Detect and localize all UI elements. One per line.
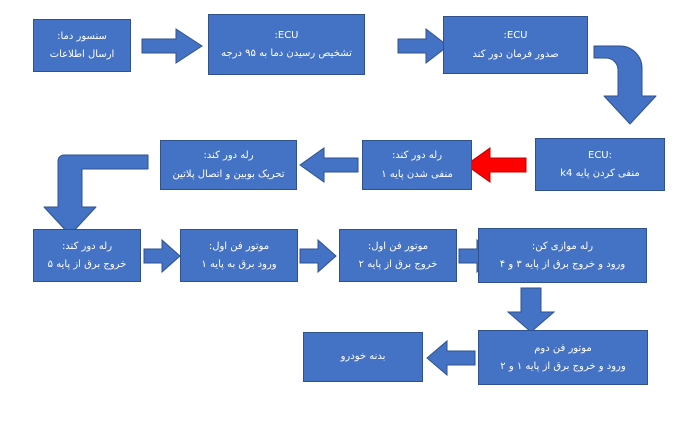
node-line1: :ECU [540,150,660,162]
node-line1: رله دور کند: [165,150,292,162]
node-line1: موتور فن اول: [185,241,293,253]
node-line2: صدور فرمان دور کند [448,49,583,61]
node-line1: موتور فن اول: [344,241,452,253]
node-line1: رله دور کند: [367,150,467,162]
node-relay-slow-pin1[interactable]: رله دور کند: منفی شدن پایه ۱ [362,140,472,190]
arrow-right-1 [142,29,202,63]
node-car-body[interactable]: بدنه خودرو [303,332,423,382]
node-line2: تحریک بوبین و اتصال پلاتین [165,169,292,181]
node-line1: رله موازی کن: [483,241,642,253]
node-line2: ارسال اطلاعات [38,49,126,61]
arrow-left-red [466,148,526,182]
node-line1: ECU: [448,30,583,42]
node-line1: سنسور دما: [38,31,126,43]
flowchart-canvas: سنسور دما: ارسال اطلاعات ECU: تشخیص رسید… [0,0,695,423]
arrow-elbow-left-down [38,155,148,237]
node-line1: بدنه خودرو [308,351,418,363]
node-parallel-relay[interactable]: رله موازی کن: ورود و خروج برق از پایه ۳ … [478,228,647,283]
node-ecu-ground-k4[interactable]: :ECU منفی کردن پایه k4 [535,138,665,191]
arrow-left-2 [300,148,358,182]
arrow-elbow-right-down [594,34,672,124]
arrow-right-2 [398,29,448,63]
node-line1: موتور فن دوم [483,343,643,355]
arrow-right-3 [144,240,180,272]
node-line2: ورود و خروج برق از پایه ۱ و ۲ [483,361,643,373]
node-relay-slow-coil[interactable]: رله دور کند: تحریک بوبین و اتصال پلاتین [160,140,297,190]
node-line1: ECU: [213,30,360,42]
arrow-left-3 [427,341,475,375]
node-temp-sensor[interactable]: سنسور دما: ارسال اطلاعات [33,19,131,72]
node-line2: منفی شدن پایه ۱ [367,169,467,181]
node-line1: رله دور کند: [38,241,136,253]
node-fan1-in-pin1[interactable]: موتور فن اول: ورود برق به پایه ۱ [180,229,298,282]
node-fan2[interactable]: موتور فن دوم ورود و خروج برق از پایه ۱ و… [478,330,648,385]
arrow-right-4 [300,240,336,272]
node-ecu-detect[interactable]: ECU: تشخیص رسیدن دما به ۹۵ درجه [208,14,365,75]
node-line2: ورود و خروج برق از پایه ۳ و ۴ [483,259,642,271]
node-line2: ورود برق به پایه ۱ [185,259,293,271]
node-line2: خروج برق از پایه ۵ [38,259,136,271]
node-line2: خروج برق از پایه ۲ [344,259,452,271]
node-line2: منفی کردن پایه k4 [540,168,660,180]
node-fan1-out-pin2[interactable]: موتور فن اول: خروج برق از پایه ۲ [339,229,457,282]
node-line2: تشخیص رسیدن دما به ۹۵ درجه [213,48,360,60]
node-relay-slow-pin5[interactable]: رله دور کند: خروج برق از پایه ۵ [33,229,141,282]
node-ecu-command[interactable]: ECU: صدور فرمان دور کند [443,16,588,74]
arrow-down-1 [508,288,554,332]
